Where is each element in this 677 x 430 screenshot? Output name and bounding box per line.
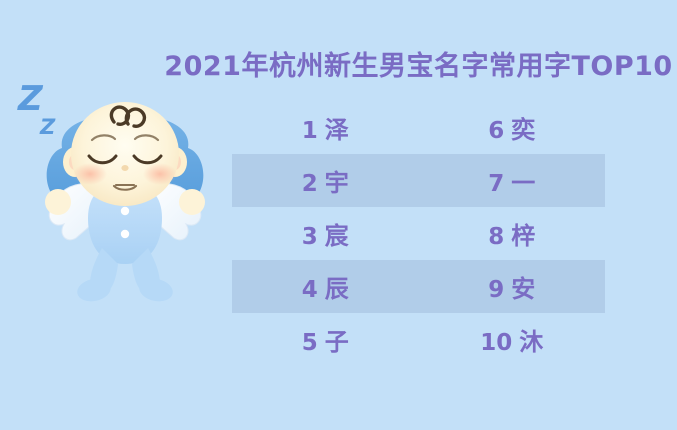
cheek-left xyxy=(73,163,107,185)
rank-character: 子 xyxy=(325,322,349,357)
infographic-canvas: Z Z xyxy=(0,0,677,430)
rank-cell-1: 1 泽 xyxy=(232,110,419,145)
rank-character: 宸 xyxy=(325,216,349,251)
rank-cell-7: 7 一 xyxy=(419,163,606,198)
rank-character: 宇 xyxy=(325,163,349,198)
onesie-button-top xyxy=(121,207,129,215)
ranking-table: 1 泽 6 奕 2 宇 7 一 3 宸 8 xyxy=(232,101,605,366)
rank-character: 梓 xyxy=(511,216,535,251)
rank-character: 奕 xyxy=(511,110,535,145)
rank-cell-5: 5 子 xyxy=(232,322,419,357)
rank-character: 泽 xyxy=(325,110,349,145)
rank-number: 3 xyxy=(302,224,318,250)
rank-cell-8: 8 梓 xyxy=(419,216,606,251)
rank-number: 8 xyxy=(488,224,504,250)
rank-cell-2: 2 宇 xyxy=(232,163,419,198)
rank-cell-3: 3 宸 xyxy=(232,216,419,251)
table-row: 4 辰 9 安 xyxy=(232,260,605,313)
rank-character: 一 xyxy=(511,163,535,198)
rank-character: 安 xyxy=(511,269,535,304)
rank-number: 5 xyxy=(302,330,318,356)
rank-character: 沐 xyxy=(519,322,543,357)
rank-number: 6 xyxy=(488,118,504,144)
rank-character: 辰 xyxy=(325,269,349,304)
sleep-z-small-icon: Z xyxy=(39,115,56,139)
page-title: 2021年杭州新生男宝名字常用字TOP10 xyxy=(0,44,677,83)
table-row: 2 宇 7 一 xyxy=(232,154,605,207)
rank-cell-4: 4 辰 xyxy=(232,269,419,304)
cheek-right xyxy=(143,163,177,185)
table-row: 1 泽 6 奕 xyxy=(232,101,605,154)
baby-nose xyxy=(121,165,128,171)
baby-head xyxy=(71,102,179,206)
table-row: 3 宸 8 梓 xyxy=(232,207,605,260)
rank-cell-10: 10 沐 xyxy=(419,322,606,357)
rank-number: 4 xyxy=(302,277,318,303)
sleep-z-large-icon: Z xyxy=(17,79,44,119)
rank-cell-6: 6 奕 xyxy=(419,110,606,145)
table-row: 5 子 10 沐 xyxy=(232,313,605,366)
svg-text:Z: Z xyxy=(17,79,44,119)
rank-number: 9 xyxy=(488,277,504,303)
rank-number: 2 xyxy=(302,171,318,197)
rank-number: 1 xyxy=(302,118,318,144)
rank-number: 10 xyxy=(480,330,512,356)
svg-text:Z: Z xyxy=(39,115,56,139)
sleeping-baby-illustration: Z Z xyxy=(14,78,236,323)
rank-number: 7 xyxy=(488,171,504,197)
onesie-button-bottom xyxy=(121,230,129,238)
rank-cell-9: 9 安 xyxy=(419,269,606,304)
